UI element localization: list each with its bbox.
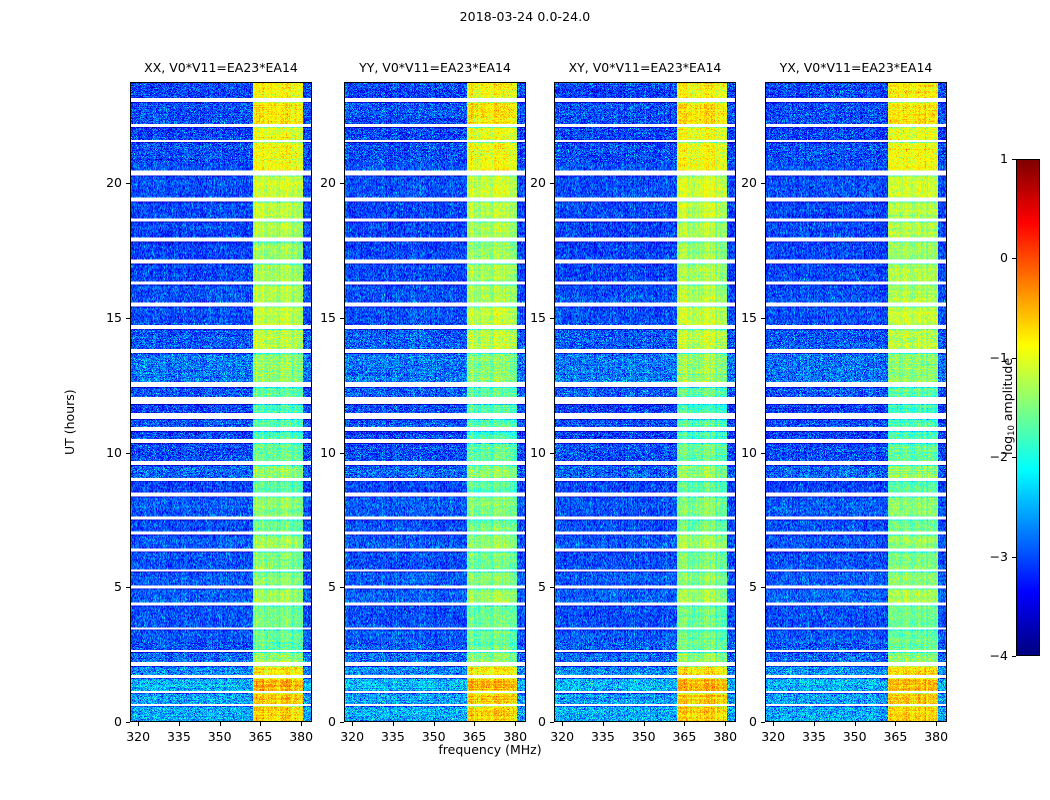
ytick-mark	[340, 183, 344, 184]
ytick-mark	[550, 183, 554, 184]
xtick-label: 380	[276, 729, 326, 744]
ytick-mark	[761, 183, 765, 184]
xtick-mark	[260, 722, 261, 726]
xtick-mark	[474, 722, 475, 726]
ytick-mark	[126, 453, 130, 454]
colorbar	[1016, 159, 1040, 656]
xtick-label: 380	[911, 729, 961, 744]
ytick-label: 5	[296, 579, 336, 594]
ytick-mark	[126, 183, 130, 184]
ytick-label: 0	[296, 714, 336, 729]
colorbar-tick-label: 1	[968, 151, 1008, 166]
xtick-mark	[773, 722, 774, 726]
ytick-label: 0	[506, 714, 546, 729]
x-axis-label: frequency (MHz)	[330, 742, 650, 757]
ytick-mark	[340, 722, 344, 723]
ytick-mark	[340, 587, 344, 588]
ytick-label: 0	[82, 714, 122, 729]
ytick-label: 15	[717, 310, 757, 325]
ytick-label: 0	[717, 714, 757, 729]
spectrogram-axes-xx[interactable]	[130, 82, 312, 722]
xtick-mark	[603, 722, 604, 726]
colorbar-tick-label: −3	[968, 549, 1008, 564]
xtick-mark	[393, 722, 394, 726]
xtick-mark	[936, 722, 937, 726]
ytick-label: 20	[296, 175, 336, 190]
colorbar-tick-label: 0	[968, 250, 1008, 265]
colorbar-tick-mark	[1012, 457, 1016, 458]
ytick-label: 15	[296, 310, 336, 325]
ytick-mark	[761, 318, 765, 319]
ytick-label: 15	[82, 310, 122, 325]
ytick-label: 15	[506, 310, 546, 325]
xtick-mark	[895, 722, 896, 726]
ytick-mark	[340, 453, 344, 454]
ytick-label: 20	[506, 175, 546, 190]
ytick-label: 20	[717, 175, 757, 190]
ytick-label: 10	[717, 445, 757, 460]
colorbar-label-prefix: log	[1000, 436, 1015, 455]
ytick-mark	[550, 722, 554, 723]
ytick-label: 20	[82, 175, 122, 190]
ytick-label: 5	[717, 579, 757, 594]
ytick-mark	[550, 587, 554, 588]
ytick-mark	[761, 453, 765, 454]
ytick-mark	[126, 587, 130, 588]
ytick-label: 10	[506, 445, 546, 460]
xtick-mark	[684, 722, 685, 726]
xtick-mark	[352, 722, 353, 726]
ytick-mark	[761, 722, 765, 723]
colorbar-label: log10 amplitude	[1000, 358, 1017, 455]
colorbar-tick-mark	[1012, 557, 1016, 558]
spectrogram-axes-yx[interactable]	[765, 82, 947, 722]
ytick-label: 5	[82, 579, 122, 594]
spectrogram-axes-xy[interactable]	[554, 82, 736, 722]
figure-suptitle: 2018-03-24 0.0-24.0	[0, 9, 1050, 24]
figure-root: 2018-03-24 0.0-24.0 XX, V0*V11=EA23*EA14…	[0, 0, 1050, 800]
colorbar-tick-mark	[1012, 159, 1016, 160]
ytick-label: 10	[296, 445, 336, 460]
spectrogram-axes-yy[interactable]	[344, 82, 526, 722]
ytick-mark	[126, 318, 130, 319]
ytick-mark	[550, 318, 554, 319]
xtick-mark	[855, 722, 856, 726]
ytick-label: 10	[82, 445, 122, 460]
ytick-label: 5	[506, 579, 546, 594]
xtick-mark	[179, 722, 180, 726]
panel-title-yy: YY, V0*V11=EA23*EA14	[314, 60, 556, 75]
ytick-mark	[340, 318, 344, 319]
ytick-mark	[550, 453, 554, 454]
panel-title-xx: XX, V0*V11=EA23*EA14	[100, 60, 342, 75]
colorbar-tick-mark	[1012, 656, 1016, 657]
xtick-mark	[138, 722, 139, 726]
colorbar-label-subscript: 10	[1007, 425, 1017, 436]
panel-title-xy: XY, V0*V11=EA23*EA14	[524, 60, 766, 75]
colorbar-tick-mark	[1012, 258, 1016, 259]
y-axis-label: UT (hours)	[62, 389, 77, 455]
ytick-mark	[761, 587, 765, 588]
xtick-mark	[644, 722, 645, 726]
xtick-mark	[562, 722, 563, 726]
panel-title-yx: YX, V0*V11=EA23*EA14	[735, 60, 977, 75]
xtick-label: 380	[700, 729, 750, 744]
ytick-mark	[126, 722, 130, 723]
xtick-mark	[220, 722, 221, 726]
colorbar-label-suffix: amplitude	[1000, 358, 1015, 425]
xtick-mark	[434, 722, 435, 726]
xtick-mark	[814, 722, 815, 726]
colorbar-tick-label: −4	[968, 648, 1008, 663]
